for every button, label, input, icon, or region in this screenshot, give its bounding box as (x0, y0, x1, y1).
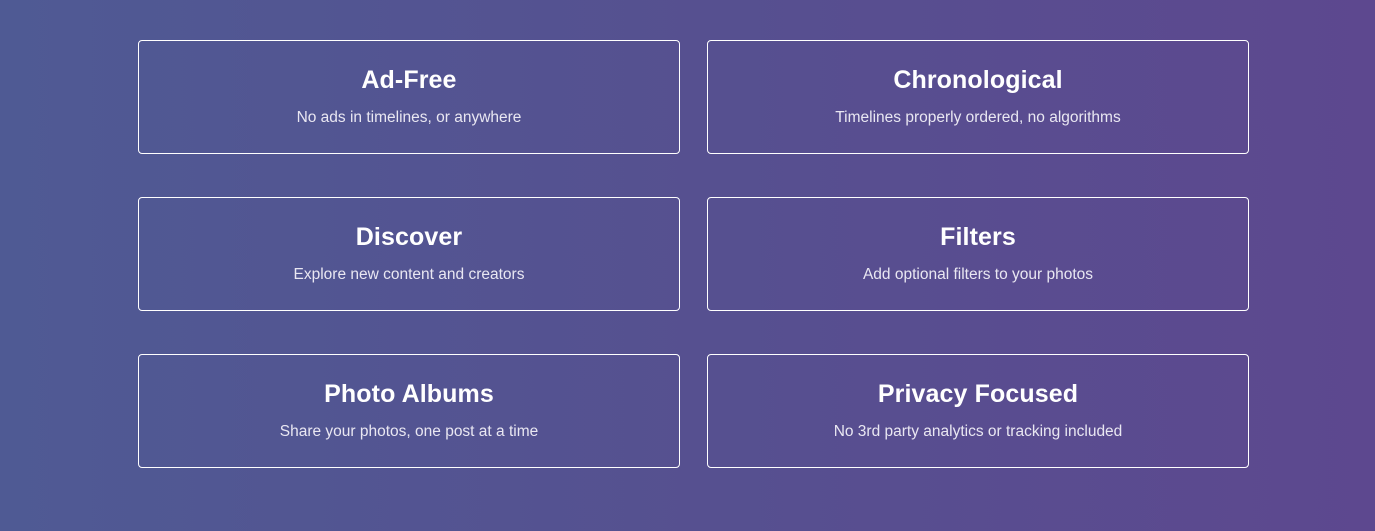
feature-card-title: Ad-Free (361, 66, 456, 95)
feature-card-photo-albums[interactable]: Photo Albums Share your photos, one post… (138, 354, 680, 468)
feature-card-subtitle: Share your photos, one post at a time (280, 422, 539, 442)
feature-card-title: Discover (356, 223, 462, 252)
feature-card-title: Privacy Focused (878, 380, 1078, 409)
feature-card-title: Photo Albums (324, 380, 494, 409)
feature-card-subtitle: No ads in timelines, or anywhere (297, 108, 522, 128)
feature-card-title: Filters (940, 223, 1016, 252)
feature-card-subtitle: Add optional filters to your photos (863, 265, 1093, 285)
feature-card-filters[interactable]: Filters Add optional filters to your pho… (707, 197, 1249, 311)
feature-grid: Ad-Free No ads in timelines, or anywhere… (138, 40, 1249, 468)
feature-card-privacy-focused[interactable]: Privacy Focused No 3rd party analytics o… (707, 354, 1249, 468)
feature-card-subtitle: Timelines properly ordered, no algorithm… (835, 108, 1120, 128)
feature-card-subtitle: No 3rd party analytics or tracking inclu… (834, 422, 1123, 442)
feature-card-ad-free[interactable]: Ad-Free No ads in timelines, or anywhere (138, 40, 680, 154)
feature-card-chronological[interactable]: Chronological Timelines properly ordered… (707, 40, 1249, 154)
feature-card-subtitle: Explore new content and creators (294, 265, 525, 285)
feature-card-title: Chronological (893, 66, 1062, 95)
feature-card-discover[interactable]: Discover Explore new content and creator… (138, 197, 680, 311)
feature-section: Ad-Free No ads in timelines, or anywhere… (0, 0, 1375, 531)
